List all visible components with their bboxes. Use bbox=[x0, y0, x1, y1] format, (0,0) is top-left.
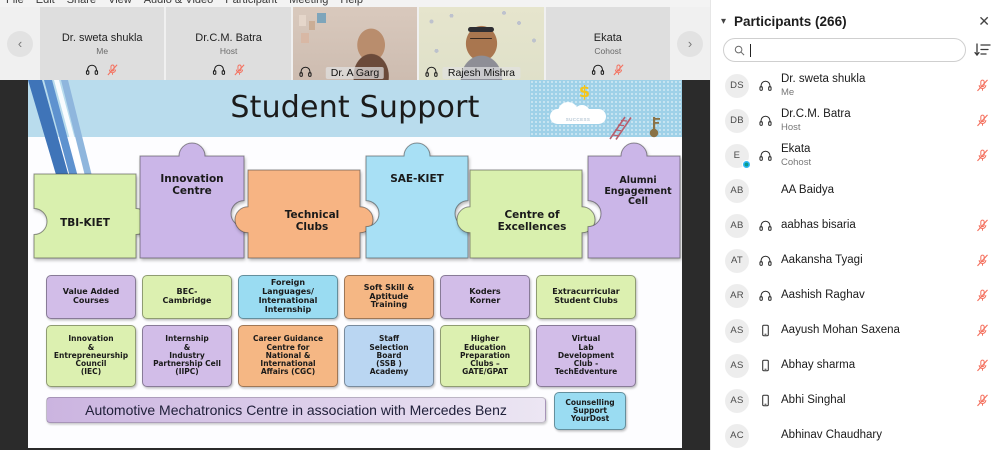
headset-icon bbox=[759, 114, 772, 127]
support-box: BEC-Cambridge bbox=[142, 275, 232, 319]
headset-icon bbox=[759, 254, 772, 267]
microphone-muted-icon bbox=[976, 359, 989, 372]
tile-status-icons bbox=[591, 63, 624, 76]
menu-item-help[interactable]: Help bbox=[340, 0, 363, 6]
sort-icon[interactable] bbox=[974, 41, 992, 59]
participant-name: Dr. sweta shukla bbox=[781, 73, 965, 86]
headset-icon bbox=[759, 219, 772, 232]
support-box-label: Value AddedCourses bbox=[63, 288, 120, 306]
headset-icon bbox=[759, 149, 772, 162]
chevron-left-icon: ‹ bbox=[7, 31, 33, 57]
avatar: AS bbox=[725, 389, 749, 413]
participant-name-block: Abhi Singhal bbox=[781, 394, 965, 407]
participant-row[interactable]: AB aabhas bisaria bbox=[711, 208, 1000, 243]
avatar: AS bbox=[725, 319, 749, 343]
puzzle-piece-label: InnovationCentre bbox=[136, 174, 248, 198]
menu-item-participant[interactable]: Participant bbox=[225, 0, 277, 6]
headset-icon bbox=[299, 65, 312, 78]
participant-row[interactable]: AS Abhay sharma bbox=[711, 348, 1000, 383]
support-box: VirtualLabDevelopmentClub -TechEdventure bbox=[536, 325, 636, 387]
support-box: Internship&IndustryPartnership Cell(IIPC… bbox=[142, 325, 232, 387]
video-filmstrip: ‹ Dr. sweta shukla Me Dr.C.M. Batra Host bbox=[0, 7, 710, 80]
participant-name: Abhi Singhal bbox=[781, 394, 965, 407]
tile-participant-name: Dr. A Garg bbox=[326, 67, 384, 79]
headset-icon bbox=[86, 63, 99, 76]
participant-device-icon bbox=[758, 289, 772, 302]
headset-icon bbox=[425, 65, 438, 78]
participant-device-icon bbox=[758, 324, 772, 337]
avatar-initials: AS bbox=[730, 395, 743, 406]
microphone-muted-icon bbox=[976, 394, 989, 407]
participants-panel: ▾ Participants (266) ✕ bbox=[710, 0, 1000, 450]
microphone-muted-icon bbox=[612, 64, 624, 76]
participant-device-icon bbox=[758, 114, 772, 127]
support-box-label: ExtracurricularStudent Clubs bbox=[552, 288, 619, 306]
participant-mute-icon[interactable] bbox=[974, 324, 990, 337]
participant-name-block: Aakansha Tyagi bbox=[781, 254, 965, 267]
headset-icon bbox=[212, 63, 225, 76]
support-box: ForeignLanguages/InternationalInternship bbox=[238, 275, 338, 319]
support-box-label: StaffSelectionBoard(SSB )Academy bbox=[369, 335, 408, 376]
support-box: Career GuidanceCentre forNational &Inter… bbox=[238, 325, 338, 387]
puzzle-shape bbox=[136, 152, 248, 262]
participant-name-block: Ekata Cohost bbox=[781, 143, 965, 169]
participant-name: Abhay sharma bbox=[781, 359, 965, 372]
support-box-label: VirtualLabDevelopmentClub -TechEdventure bbox=[555, 335, 618, 376]
avatar: AS bbox=[725, 354, 749, 378]
menu-item-view[interactable]: View bbox=[108, 0, 132, 6]
support-box: StaffSelectionBoard(SSB )Academy bbox=[344, 325, 434, 387]
microphone-muted-icon bbox=[976, 79, 989, 92]
participant-mute-icon[interactable] bbox=[974, 149, 990, 162]
avatar: AR bbox=[725, 284, 749, 308]
avatar-initials: DB bbox=[730, 115, 744, 126]
participant-name-block: aabhas bisaria bbox=[781, 219, 965, 232]
tile-status-icons bbox=[86, 63, 119, 76]
support-box-label: HigherEducationPreparationClubs –GATE/GP… bbox=[460, 335, 510, 376]
headset-icon bbox=[759, 289, 772, 302]
participant-name: Dr.C.M. Batra bbox=[781, 108, 965, 121]
avatar-initials: E bbox=[734, 150, 741, 161]
participant-device-icon bbox=[758, 219, 772, 232]
support-box: ExtracurricularStudent Clubs bbox=[536, 275, 636, 319]
participant-row[interactable]: AS Abhi Singhal bbox=[711, 383, 1000, 418]
mercedes-benz-banner: Automotive Mechatronics Centre in associ… bbox=[46, 397, 546, 423]
support-box-row-2: Innovation&EntrepreneurshipCouncil(IEC)I… bbox=[46, 325, 666, 387]
microphone-muted-icon bbox=[107, 64, 119, 76]
close-icon[interactable]: ✕ bbox=[978, 14, 990, 28]
video-tile[interactable]: Dr.C.M. Batra Host bbox=[166, 7, 290, 80]
menu-bar: FileEditShareViewAudio & VideoParticipan… bbox=[0, 0, 710, 7]
participant-mute-icon[interactable] bbox=[974, 254, 990, 267]
microphone-muted-icon bbox=[233, 64, 245, 76]
participant-name-block: Abhay sharma bbox=[781, 359, 965, 372]
avatar-initials: DS bbox=[730, 80, 744, 91]
avatar: DS bbox=[725, 74, 749, 98]
menu-item-meeting[interactable]: Meeting bbox=[289, 0, 328, 6]
avatar: DB bbox=[725, 109, 749, 133]
participant-mute-icon[interactable] bbox=[974, 219, 990, 232]
participant-row[interactable]: AB AA Baidya bbox=[711, 173, 1000, 208]
avatar-initials: AB bbox=[730, 185, 743, 196]
participant-mute-icon[interactable] bbox=[974, 289, 990, 302]
microphone-muted-icon bbox=[976, 324, 989, 337]
avatar: AB bbox=[725, 179, 749, 203]
support-box-label: ForeignLanguages/InternationalInternship bbox=[259, 279, 318, 314]
participant-name: Aakansha Tyagi bbox=[781, 254, 965, 267]
menu-item-share[interactable]: Share bbox=[67, 0, 96, 6]
support-box-label: BEC-Cambridge bbox=[163, 288, 212, 306]
tile-participant-role: Cohost bbox=[594, 46, 621, 56]
puzzle-piece: AlumniEngagementCell bbox=[584, 152, 682, 262]
support-box: KodersKorner bbox=[440, 275, 530, 319]
search-icon bbox=[734, 45, 745, 56]
tile-status-icons bbox=[212, 63, 245, 76]
participant-name: Aayush Mohan Saxena bbox=[781, 324, 965, 337]
participant-row[interactable]: AS Aayush Mohan Saxena bbox=[711, 313, 1000, 348]
headset-icon bbox=[591, 63, 604, 76]
participant-device-icon bbox=[758, 79, 772, 92]
microphone-muted-icon bbox=[976, 219, 989, 232]
participant-device-icon bbox=[758, 149, 772, 162]
participant-name-block: Dr. sweta shukla Me bbox=[781, 73, 965, 99]
phone-icon bbox=[759, 324, 772, 337]
participant-row[interactable]: E Ekata Cohost bbox=[711, 138, 1000, 173]
puzzle-shape bbox=[30, 170, 140, 262]
tile-participant-name: Rajesh Mishra bbox=[443, 67, 520, 79]
participant-name-block: AA Baidya bbox=[781, 184, 965, 197]
counselling-support-box: CounsellingSupportYourDost bbox=[554, 392, 626, 430]
participant-row[interactable]: DB Dr.C.M. Batra Host bbox=[711, 103, 1000, 138]
menu-item-audio-video[interactable]: Audio & Video bbox=[144, 0, 214, 6]
support-box-label: Career GuidanceCentre forNational &Inter… bbox=[253, 335, 323, 376]
microphone-muted-icon bbox=[976, 254, 989, 267]
participant-name: AA Baidya bbox=[781, 184, 965, 197]
tile-participant-role: Me bbox=[96, 46, 108, 56]
participants-list[interactable]: DS Dr. sweta shukla Me DB Dr.C.M. Batra … bbox=[711, 68, 1000, 450]
participant-name-block: Abhinav Chaudhary bbox=[781, 429, 965, 442]
participant-name-block: Aashish Raghav bbox=[781, 289, 965, 302]
slide-title: Student Support bbox=[28, 90, 682, 125]
support-box: Value AddedCourses bbox=[46, 275, 136, 319]
puzzle-piece-label: TBI-KIET bbox=[30, 218, 140, 230]
puzzle-piece: TechnicalClubs bbox=[244, 166, 364, 262]
participant-role: Cohost bbox=[781, 157, 965, 169]
participant-row[interactable]: DS Dr. sweta shukla Me bbox=[711, 68, 1000, 103]
puzzle-piece: TBI-KIET bbox=[30, 170, 140, 262]
avatar: AC bbox=[725, 424, 749, 448]
puzzle-diagram: TBI-KIETInnovationCentreTechnicalClubsSA… bbox=[28, 138, 682, 263]
puzzle-piece: SAE-KIET bbox=[362, 152, 472, 262]
zoom-meeting-window: FileEditShareViewAudio & VideoParticipan… bbox=[0, 0, 1000, 450]
presentation-slide: $ SUCCESS bbox=[28, 80, 682, 448]
puzzle-piece-label: TechnicalClubs bbox=[252, 210, 372, 234]
microphone-muted-icon bbox=[976, 289, 989, 302]
tile-participant-name: Dr. sweta shukla bbox=[62, 32, 143, 44]
phone-icon bbox=[759, 394, 772, 407]
puzzle-piece-label: AlumniEngagementCell bbox=[588, 176, 682, 208]
microphone-muted-icon bbox=[976, 149, 989, 162]
participant-role: Host bbox=[781, 122, 965, 134]
video-tile[interactable]: Rajesh Mishra bbox=[419, 7, 543, 80]
participants-panel-header: ▾ Participants (266) ✕ bbox=[711, 6, 1000, 36]
support-box: Soft Skill &AptitudeTraining bbox=[344, 275, 434, 319]
avatar: AT bbox=[725, 249, 749, 273]
avatar-initials: AS bbox=[730, 360, 743, 371]
participant-mute-icon[interactable] bbox=[974, 359, 990, 372]
puzzle-shape bbox=[362, 152, 472, 262]
filmstrip-prev-button[interactable]: ‹ bbox=[0, 7, 40, 80]
puzzle-piece-label: Centre ofExcellences bbox=[472, 210, 592, 234]
participant-row[interactable]: AC Abhinav Chaudhary bbox=[711, 418, 1000, 450]
puzzle-piece-label: SAE-KIET bbox=[362, 174, 472, 186]
participant-name-block: Aayush Mohan Saxena bbox=[781, 324, 965, 337]
search-input[interactable] bbox=[756, 44, 955, 56]
microphone-muted-icon bbox=[976, 114, 989, 127]
participant-device-icon bbox=[758, 394, 772, 407]
status-badge bbox=[742, 160, 751, 169]
avatar: AB bbox=[725, 214, 749, 238]
support-box: Innovation&EntrepreneurshipCouncil(IEC) bbox=[46, 325, 136, 387]
tile-participant-name: Dr.C.M. Batra bbox=[195, 32, 262, 44]
avatar-initials: AR bbox=[730, 290, 744, 301]
avatar-initials: AC bbox=[730, 430, 744, 441]
support-box-label: KodersKorner bbox=[469, 288, 500, 306]
participant-role: Me bbox=[781, 87, 965, 99]
participant-name: Aashish Raghav bbox=[781, 289, 965, 302]
participant-row[interactable]: AR Aashish Raghav bbox=[711, 278, 1000, 313]
participant-name: Abhinav Chaudhary bbox=[781, 429, 965, 442]
participants-search-row bbox=[711, 36, 1000, 62]
participant-device-icon bbox=[758, 359, 772, 372]
video-tile[interactable]: Dr. sweta shukla Me bbox=[40, 7, 164, 80]
puzzle-piece: Centre ofExcellences bbox=[466, 166, 586, 262]
headset-icon bbox=[759, 79, 772, 92]
participant-name: aabhas bisaria bbox=[781, 219, 965, 232]
participants-title: Participants (266) bbox=[734, 14, 847, 29]
slide-header-band: $ SUCCESS bbox=[28, 80, 682, 137]
avatar-initials: AB bbox=[730, 220, 743, 231]
avatar-initials: AS bbox=[730, 325, 743, 336]
puzzle-piece: InnovationCentre bbox=[136, 152, 248, 262]
support-box-row-1: Value AddedCoursesBEC-CambridgeForeignLa… bbox=[46, 275, 666, 319]
participant-row[interactable]: AT Aakansha Tyagi bbox=[711, 243, 1000, 278]
video-tile[interactable]: Ekata Cohost bbox=[546, 7, 670, 80]
phone-icon bbox=[759, 359, 772, 372]
chevron-right-icon: › bbox=[677, 31, 703, 57]
participant-name-block: Dr.C.M. Batra Host bbox=[781, 108, 965, 134]
support-box-label: CounsellingSupportYourDost bbox=[565, 399, 614, 424]
tile-participant-role: Host bbox=[220, 46, 237, 56]
video-tile[interactable]: Dr. A Garg bbox=[293, 7, 417, 80]
text-cursor bbox=[750, 44, 751, 57]
participant-mute-icon[interactable] bbox=[974, 114, 990, 127]
menu-item-file[interactable]: File bbox=[6, 0, 24, 6]
participant-mute-icon[interactable] bbox=[974, 79, 990, 92]
shared-screen-area[interactable]: $ SUCCESS bbox=[0, 80, 710, 450]
menu-item-edit[interactable]: Edit bbox=[36, 0, 55, 6]
video-tiles: Dr. sweta shukla Me Dr.C.M. Batra Host bbox=[40, 7, 670, 80]
participant-mute-icon[interactable] bbox=[974, 394, 990, 407]
chevron-down-icon[interactable]: ▾ bbox=[721, 16, 726, 27]
filmstrip-next-button[interactable]: › bbox=[670, 7, 710, 80]
avatar-initials: AT bbox=[731, 255, 743, 266]
search-box[interactable] bbox=[723, 38, 966, 62]
tile-status-icons bbox=[425, 65, 438, 78]
support-box: HigherEducationPreparationClubs –GATE/GP… bbox=[440, 325, 530, 387]
support-box-label: Internship&IndustryPartnership Cell(IIPC… bbox=[153, 335, 221, 376]
tile-status-icons bbox=[299, 65, 312, 78]
participant-name: Ekata bbox=[781, 143, 965, 156]
support-box-label: Innovation&EntrepreneurshipCouncil(IEC) bbox=[54, 335, 128, 376]
support-box-label: Soft Skill &AptitudeTraining bbox=[364, 284, 414, 310]
tile-participant-name: Ekata bbox=[594, 32, 622, 44]
participant-device-icon bbox=[758, 254, 772, 267]
avatar: E bbox=[725, 144, 749, 168]
